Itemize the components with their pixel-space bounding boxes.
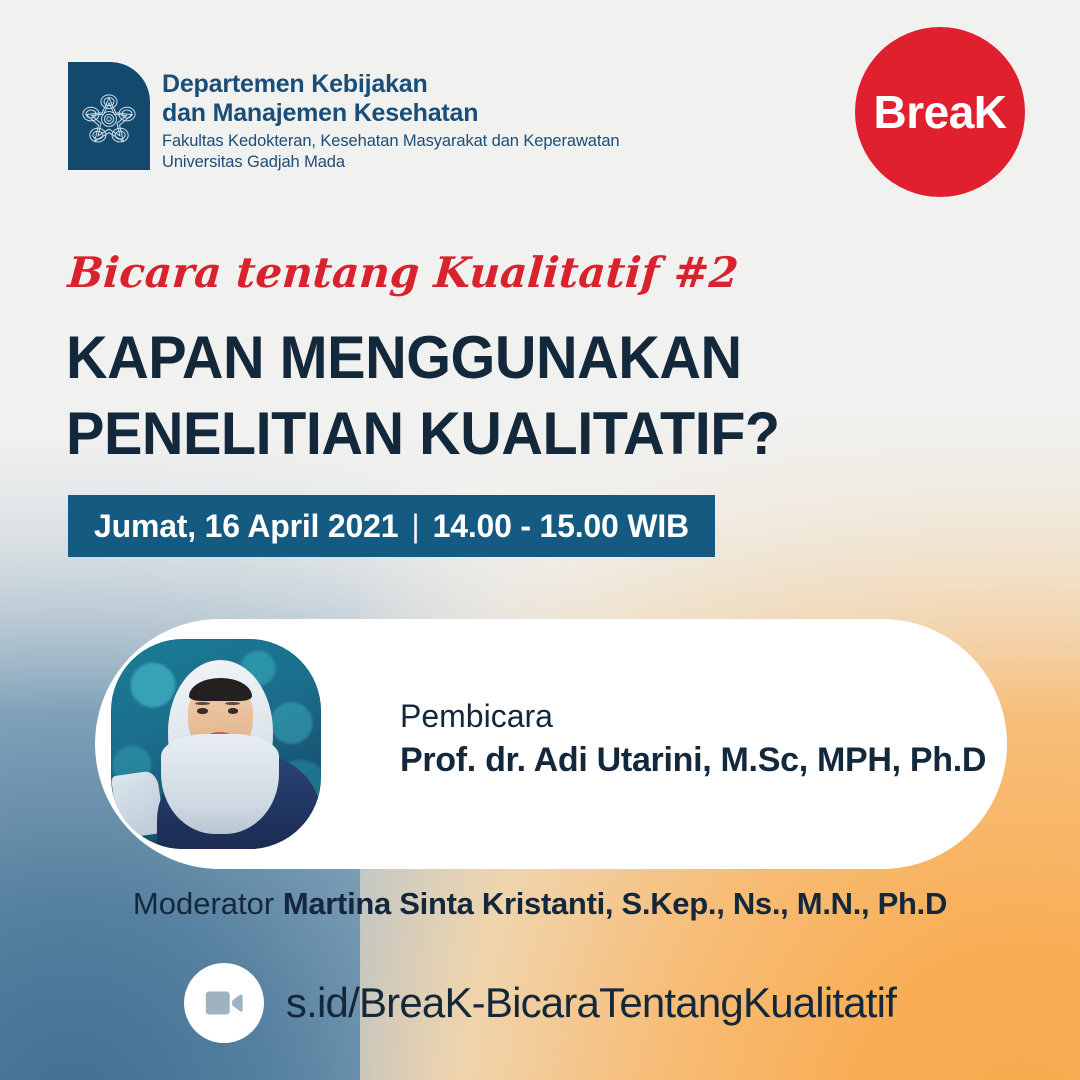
logo-line-2: dan Manajemen Kesehatan — [162, 99, 620, 128]
logo-line-3: Fakultas Kedokteran, Kesehatan Masyaraka… — [162, 131, 620, 152]
logo-wordmark: Departemen Kebijakan dan Manajemen Keseh… — [162, 70, 620, 173]
speaker-avatar — [111, 639, 321, 849]
break-badge-label: BreaK — [873, 89, 1006, 135]
page-title: KAPAN MENGGUNAKAN PENELITIAN KUALITATIF? — [66, 320, 853, 472]
speaker-name: Prof. dr. Adi Utarini, M.Sc, MPH, Ph.D — [400, 737, 986, 783]
moderator-label: Moderator — [133, 886, 283, 921]
title-line-1: KAPAN MENGGUNAKAN — [66, 320, 853, 396]
banner-separator: | — [411, 508, 419, 545]
registration-link-row[interactable]: s.id/BreaK-BicaraTentangKualitatif — [0, 963, 1080, 1043]
logo-line-1: Departemen Kebijakan — [162, 70, 620, 99]
speaker-card: Pembicara Prof. dr. Adi Utarini, M.Sc, M… — [95, 619, 1007, 869]
speaker-role-label: Pembicara — [400, 695, 986, 737]
event-date: Jumat, 16 April 2021 — [94, 508, 398, 545]
avatar-eye-right — [228, 708, 239, 713]
ugm-emblem-icon — [78, 82, 140, 150]
moderator-line: Moderator Martina Sinta Kristanti, S.Kep… — [0, 884, 1080, 924]
moderator-name: Martina Sinta Kristanti, S.Kep., Ns., M.… — [283, 886, 947, 921]
speaker-details: Pembicara Prof. dr. Adi Utarini, M.Sc, M… — [400, 695, 986, 783]
webinar-poster: Departemen Kebijakan dan Manajemen Keseh… — [0, 0, 1080, 1080]
event-time: 14.00 - 15.00 WIB — [433, 508, 689, 545]
video-camera-icon[interactable] — [184, 963, 264, 1043]
title-line-2: PENELITIAN KUALITATIF? — [66, 396, 853, 472]
series-kicker: Bicara tentang Kualitatif #2 — [67, 252, 740, 294]
break-program-badge: BreaK — [855, 27, 1025, 197]
ugm-logo-badge — [68, 62, 150, 170]
registration-url[interactable]: s.id/BreaK-BicaraTentangKualitatif — [286, 979, 896, 1027]
poster-header: Departemen Kebijakan dan Manajemen Keseh… — [0, 0, 1080, 230]
logo-line-4: Universitas Gadjah Mada — [162, 152, 620, 173]
date-time-banner: Jumat, 16 April 2021 | 14.00 - 15.00 WIB — [68, 495, 715, 557]
avatar-eye-left — [197, 708, 208, 713]
